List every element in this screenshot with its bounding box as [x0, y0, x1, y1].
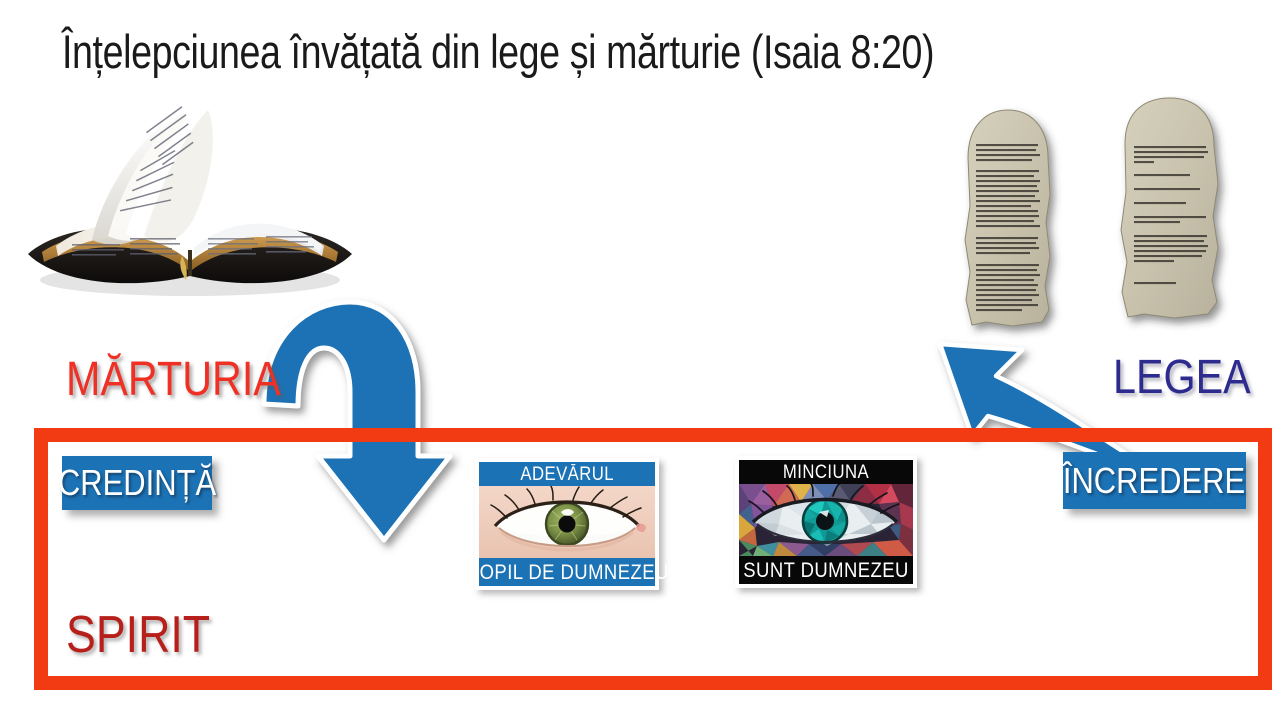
card-minciuna-bottom-label: SUNT DUMNEZEU	[743, 560, 909, 581]
polygonal-eye-image	[739, 484, 913, 556]
open-bible-image	[22, 104, 358, 316]
chip-credinta[interactable]: CREDINȚĂ	[62, 456, 212, 510]
card-adevarul-top-band: ADEVĂRUL	[479, 462, 655, 486]
chip-incredere[interactable]: ÎNCREDERE	[1063, 452, 1246, 509]
ten-commandments-tablets-image	[932, 96, 1262, 346]
label-spirit: SPIRIT	[66, 605, 210, 665]
card-adevarul-bottom-band: COPIL DE DUMNEZEU	[479, 558, 655, 586]
card-minciuna[interactable]: MINCIUNA	[735, 456, 917, 588]
card-minciuna-top-label: MINCIUNA	[783, 463, 869, 482]
chip-credinta-label: CREDINȚĂ	[58, 465, 216, 501]
slide-canvas: Înțelepciunea învățată din lege și mărtu…	[0, 0, 1280, 720]
green-eye-image	[479, 486, 655, 558]
page-title: Înțelepciunea învățată din lege și mărtu…	[62, 24, 982, 79]
label-marturia: MĂRTURIA	[66, 352, 281, 407]
card-minciuna-bottom-band: SUNT DUMNEZEU	[739, 556, 913, 584]
chip-incredere-label: ÎNCREDERE	[1063, 463, 1245, 499]
card-minciuna-top-band: MINCIUNA	[739, 460, 913, 484]
card-adevarul-bottom-label: COPIL DE DUMNEZEU	[466, 562, 669, 583]
label-legea: LEGEA	[1113, 350, 1251, 405]
card-adevarul[interactable]: ADEVĂRUL	[475, 458, 659, 590]
card-adevarul-top-label: ADEVĂRUL	[520, 465, 614, 484]
